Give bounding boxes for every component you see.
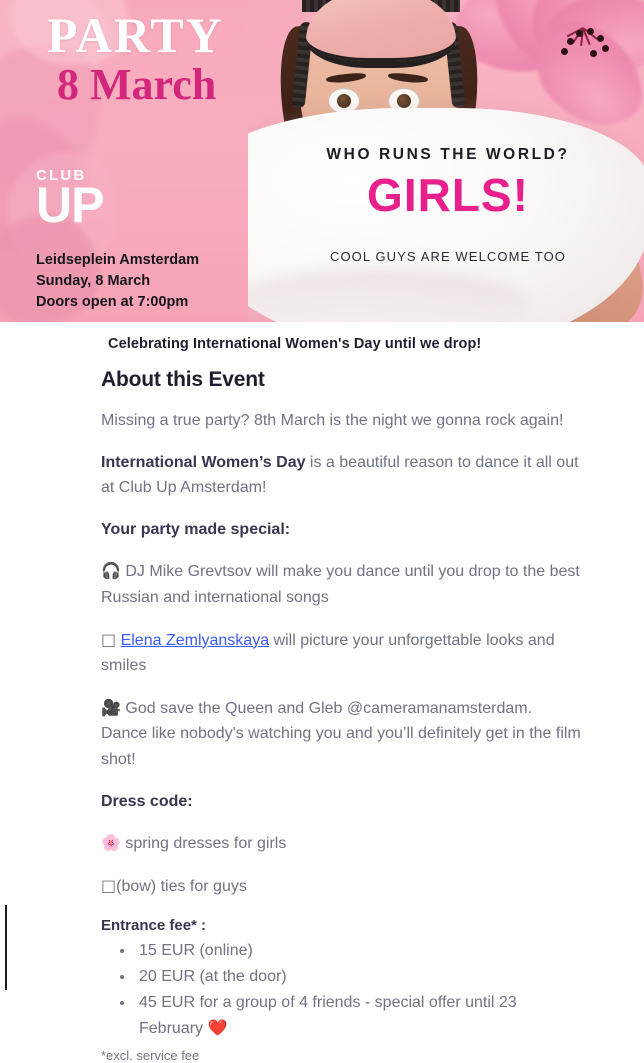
dress-code-heading-text: Dress code: (101, 793, 193, 810)
dj-line-text: DJ Mike Grevtsov will make you dance unt… (101, 563, 580, 606)
photographer-line: □ Elena Zemlyanskaya will picture your u… (101, 627, 581, 679)
event-hero-banner: PARTY 8 March CLUB UP Leidseplein Amster… (0, 0, 644, 322)
dress-code-guys-text: (bow) ties for guys (116, 878, 247, 895)
hero-day: Sunday, 8 March (36, 271, 199, 292)
about-paragraph-2: International Women’s Day is a beautiful… (101, 450, 581, 501)
headphones-icon: 🎧 (101, 561, 121, 580)
dj-line: 🎧 DJ Mike Grevtsov will make you dance u… (101, 558, 581, 610)
list-item: 20 EUR (at the door) (135, 964, 545, 990)
logo-up-text: UP (36, 184, 103, 227)
pillow-fold-shading (248, 268, 530, 322)
pillow-subline: COOL GUYS ARE WELCOME TOO (258, 249, 638, 264)
dress-code-heading: Dress code: (101, 789, 581, 815)
pillow-headline: WHO RUNS THE WORLD? (258, 146, 638, 164)
womens-day-bold: International Women’s Day (101, 454, 305, 471)
fee-footnote: *excl. service fee (101, 1048, 644, 1063)
movie-camera-icon: 🎥 (101, 698, 121, 717)
videographer-line-text: God save the Queen and Gleb @cameramanam… (101, 700, 581, 768)
left-edge-rule (5, 905, 7, 990)
event-tagline: Celebrating International Women's Day un… (108, 336, 644, 352)
club-up-logo: CLUB UP (36, 168, 103, 227)
list-item: 15 EUR (online) (135, 938, 545, 964)
videographer-line: 🎥 God save the Queen and Gleb @cameraman… (101, 695, 581, 773)
party-special-heading: Your party made special: (101, 517, 581, 543)
about-section-title: About this Event (101, 368, 644, 392)
sleep-mask-icon (306, 0, 456, 68)
event-description: Celebrating International Women's Day un… (0, 322, 644, 1063)
cherry-blossom-icon: 🌸 (101, 833, 121, 852)
dress-code-girls-text: spring dresses for girls (125, 835, 286, 852)
photographer-link[interactable]: Elena Zemlyanskaya (121, 632, 270, 649)
entrance-fee-list: 15 EUR (online) 20 EUR (at the door) 45 … (0, 938, 545, 1042)
hero-photo: WHO RUNS THE WORLD? GIRLS! COOL GUYS ARE… (248, 0, 644, 322)
party-special-heading-text: Your party made special: (101, 521, 290, 538)
entrance-fee-heading: Entrance fee* : (101, 917, 644, 934)
hero-doors-time: Doors open at 7:00pm (36, 292, 199, 313)
dress-code-guys: □(bow) ties for guys (101, 873, 581, 900)
hero-event-details: Leidseplein Amsterdam Sunday, 8 March Do… (36, 250, 199, 313)
hero-title: PARTY (47, 10, 224, 61)
bowtie-icon: □ (101, 876, 116, 895)
list-item: 45 EUR for a group of 4 friends - specia… (135, 990, 545, 1042)
camera-photo-icon: □ (101, 630, 116, 649)
about-paragraph-1: Missing a true party? 8th March is the n… (101, 408, 581, 434)
hero-venue: Leidseplein Amsterdam (36, 250, 199, 271)
hero-date: 8 March (57, 62, 216, 108)
pillow-girls-text: GIRLS! (258, 170, 638, 222)
dress-code-girls: 🌸 spring dresses for girls (101, 830, 581, 857)
